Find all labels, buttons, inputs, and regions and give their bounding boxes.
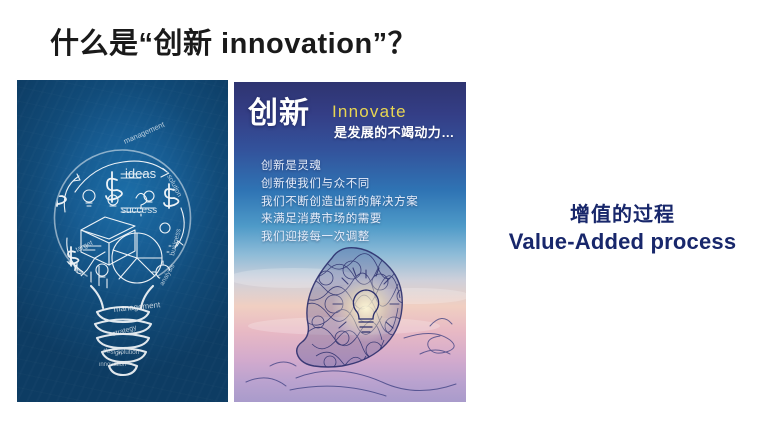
image-innovate-poster: 创新 Innovate 是发展的不竭动力… 创新是灵魂 创新使我们与众不同 我们… [234,82,466,402]
value-added-caption: 增值的过程 Value-Added process [480,202,765,255]
list-item: 我们不断创造出新的解决方案 [261,194,418,212]
poster-subheadline: 是发展的不竭动力… [334,126,455,139]
lightbulb-doodle-illustration: ideas success management management solu… [17,80,228,402]
list-item: 创新是灵魂 [261,158,418,176]
slide-canvas: { "slide": { "title": "什么是“创新 innovation… [0,0,765,437]
caption-line-en: Value-Added process [480,228,765,255]
list-item: 来满足消费市场的需要 [261,211,418,229]
poster-headline-cn: 创新 [248,99,310,129]
list-item: 我们迎接每一次调整 [261,229,418,247]
svg-text:solution: solution [165,174,183,199]
svg-text:management: management [122,119,166,145]
image-chalk-lightbulb-poster: ideas success management management solu… [17,80,228,402]
svg-text:ideas: ideas [125,166,157,181]
page-title: 什么是“创新 innovation”？ [50,20,417,62]
svg-text:analysis: analysis [159,263,177,287]
poster-headline-en: Innovate [332,103,407,120]
innovate-poster-text: 创新 Innovate 是发展的不竭动力… 创新是灵魂 创新使我们与众不同 我们… [234,82,466,402]
svg-text:success: success [121,205,157,216]
svg-text:target: target [75,240,94,254]
svg-text:strategy: strategy [112,324,138,338]
caption-line-cn: 增值的过程 [480,202,765,228]
list-item: 创新使我们与众不同 [261,176,418,194]
poster-bullet-list: 创新是灵魂 创新使我们与众不同 我们不断创造出新的解决方案 来满足消费市场的需要… [261,158,418,247]
